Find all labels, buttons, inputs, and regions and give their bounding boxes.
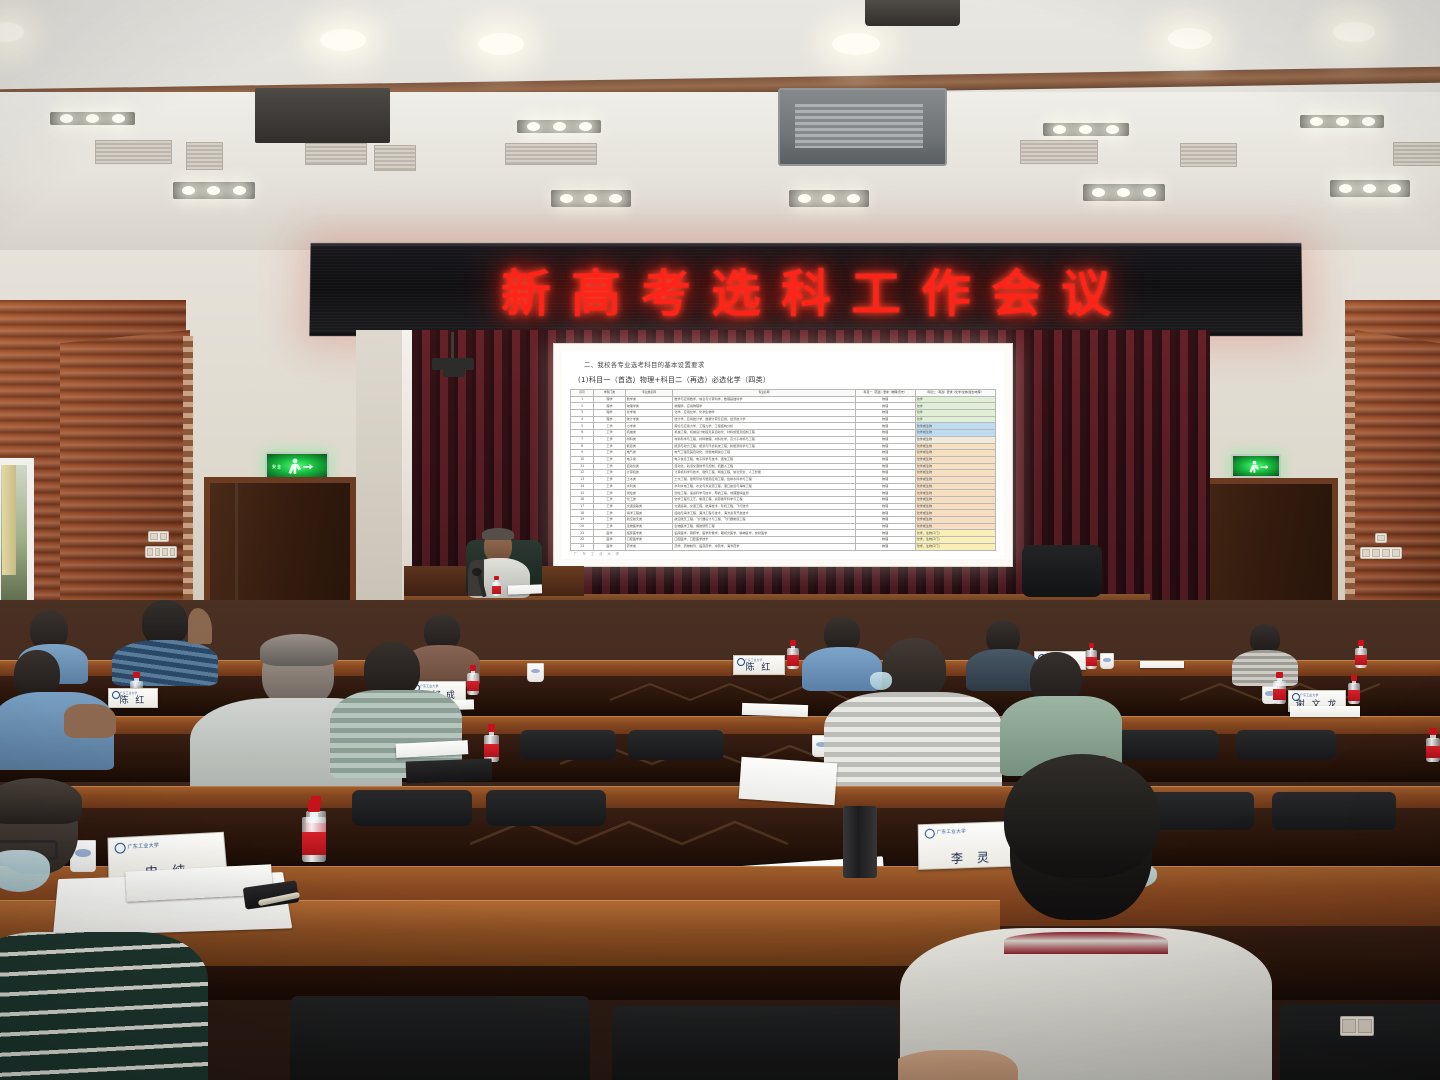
slide-table-cell: 材料科学与工程、材料物理、材料化学、高分子材料与工程 xyxy=(673,436,855,443)
name-placard: 广东工业大学 陈 红 xyxy=(733,655,785,675)
attendee-front-right xyxy=(900,760,1270,1080)
window-blind xyxy=(2,465,16,575)
stage-left-wall xyxy=(356,330,402,630)
ceiling-downlight xyxy=(478,33,524,55)
presentation-slide: 二、我校各专业选考科目的基本设置要求 (1)科目一（首选）物理+科目二（再选）必… xyxy=(562,351,1004,559)
slide-table-cell: 16 xyxy=(571,497,594,504)
light-switch-panel[interactable] xyxy=(148,531,169,542)
ceiling-lower-section xyxy=(0,92,1440,252)
slide-table-cell: 电子信息工程、电子科学与技术、通信工程 xyxy=(673,456,855,463)
bottle-cap xyxy=(308,800,320,812)
slide-table-cell: 物理 xyxy=(855,450,915,457)
slide-table-row: 7工学材料类材料科学与工程、材料物理、材料化学、高分子材料与工程物理化学或生物 xyxy=(571,436,996,443)
bottle-label xyxy=(484,744,499,758)
slide-table-cell: 物理 xyxy=(855,470,915,477)
chair-foreground-left xyxy=(290,996,590,1080)
slide-table-cell: 物理 xyxy=(855,523,915,530)
slide-table-cell: 17 xyxy=(571,503,594,510)
attendee-torso xyxy=(0,932,208,1080)
slide-table-cell: 8 xyxy=(571,443,594,450)
slide-table-cell: 化工类 xyxy=(625,497,673,504)
bottle-cap xyxy=(790,640,796,646)
slide-table-cell: 物理 xyxy=(855,490,915,497)
ceiling-air-vent xyxy=(95,140,172,164)
slide-table-cell: 22 xyxy=(571,537,594,544)
slide-table-cell: 物理 xyxy=(855,497,915,504)
slide-table-cell: 物理 xyxy=(855,416,915,423)
attendee-hair xyxy=(1004,754,1160,878)
slide-table-cell: 工学 xyxy=(594,503,625,510)
slide-table-cell: 机械工程、机械设计制造及其自动化、材料成型及控制工程 xyxy=(673,430,855,437)
chair-row-c xyxy=(486,790,606,826)
exit-sign-left-glyph: 安全 xyxy=(267,454,327,478)
slide-table-cell: 12 xyxy=(571,470,594,477)
ceiling-air-vent xyxy=(305,143,367,165)
ceiling-downlight xyxy=(1333,22,1375,42)
slide-table-cell: 航空航天工程、飞行器设计与工程、飞行器制造工程 xyxy=(673,517,855,524)
slide-table-cell: 化学或生物 xyxy=(915,443,995,450)
slide-table-cell: 交通运输类 xyxy=(625,503,673,510)
slide-table-cell: 理学 xyxy=(594,416,625,423)
slide-table-cell: 物理 xyxy=(855,483,915,490)
slide-table-cell: 15 xyxy=(571,490,594,497)
chair-row-b xyxy=(520,730,616,760)
slide-table-cell: 化学或生物 xyxy=(915,490,995,497)
ceiling-light-strip xyxy=(1330,180,1410,197)
ceiling-air-vent xyxy=(1020,140,1098,164)
slide-table-row: 8工学能源类能源与动力工程、能源与环境系统工程、新能源科学与工程物理化学或生物 xyxy=(571,443,996,450)
bottle-stage xyxy=(492,576,501,596)
slide-table-cell: 物理 xyxy=(855,436,915,443)
slide-table-cell: 材料类 xyxy=(625,436,673,443)
slide-table-cell: 自动化、轨道交通信号与控制、机器人工程 xyxy=(673,463,855,470)
bottle-cap xyxy=(1089,643,1095,648)
slide-table-cell: 工学 xyxy=(594,470,625,477)
bottle-cap xyxy=(1358,640,1364,646)
slide-table-cell: 海洋工程类 xyxy=(625,510,673,517)
slide-table-cell: 工学 xyxy=(594,436,625,443)
slide-table-cell: 化学、应用化学、化学生物学 xyxy=(673,410,855,417)
slide-table-cell: 工学 xyxy=(594,456,625,463)
attendee-front-left xyxy=(0,782,210,1080)
slide-table-cell: 理学 xyxy=(594,410,625,417)
presenter-hair xyxy=(482,528,514,540)
slide-table-cell: 口腔医学、口腔医学技术 xyxy=(673,537,855,544)
slide-table-cell: 物理 xyxy=(855,396,915,403)
attendee-hair xyxy=(0,778,82,824)
slide-table-cell: 5 xyxy=(571,423,594,430)
slide-table-cell: 化学或生物 xyxy=(915,463,995,470)
slide-table-row: 4理学统计学类统计学、应用统计学、数据计算及应用、经济统计学物理化学 xyxy=(571,416,996,423)
bottle-cap xyxy=(1276,672,1283,678)
slide-table-row: 18工学海洋工程类船舶与海洋工程、海洋工程与技术、海洋资源开发技术物理化学或生物 xyxy=(571,510,996,517)
shirt-collar-stripe xyxy=(1004,932,1168,954)
ceiling-air-vent xyxy=(505,143,597,165)
slide-table-cell: 航空航天类 xyxy=(625,517,673,524)
slide-table-cell: 工学 xyxy=(594,483,625,490)
power-outlet-panel[interactable] xyxy=(1360,547,1402,559)
slide-table-header-cell: 科目二（再选）要求（化学/生物/政治/地理） xyxy=(915,390,995,397)
ceiling-downlight xyxy=(1168,28,1212,49)
slide-table-cell: 工学 xyxy=(594,463,625,470)
ceiling-air-vent xyxy=(1180,143,1237,167)
light-switch-panel[interactable] xyxy=(1375,533,1387,543)
ceiling-light-strip xyxy=(50,112,135,125)
slide-table-cell: 工学 xyxy=(594,450,625,457)
slide-table-cell: 电子类 xyxy=(625,456,673,463)
slide-table-row: 1理学数学类数学与应用数学、信息与计算科学、数理基础科学物理化学 xyxy=(571,396,996,403)
slide-table-cell: 物理 xyxy=(855,537,915,544)
slide-table-cell: 化学工程与工艺、制药工程、资源循环科学与工程 xyxy=(673,497,855,504)
slide-table-row: 19工学航空航天类航空航天工程、飞行器设计与工程、飞行器制造工程物理化学或生物 xyxy=(571,517,996,524)
slide-table-cell: 9 xyxy=(571,450,594,457)
slide-table-header-cell: 学科门类 xyxy=(594,390,625,397)
bottle-cap xyxy=(488,724,496,732)
ceiling-light-strip xyxy=(1300,115,1384,128)
bottle-row-a-right xyxy=(1355,640,1367,668)
slide-table-cell: 14 xyxy=(571,483,594,490)
slide-table-cell: 化学或生物 xyxy=(915,423,995,430)
attendee-torso xyxy=(1232,650,1298,686)
exit-sign-right-glyph xyxy=(1233,456,1279,476)
slide-table-cell: 化学或生物 xyxy=(915,503,995,510)
slide-table-row: 10工学电子类电子信息工程、电子科学与技术、通信工程物理化学或生物 xyxy=(571,456,996,463)
bottle-label xyxy=(1355,655,1367,665)
slide-table-cell: 6 xyxy=(571,430,594,437)
slide-table-cell: 物理 xyxy=(855,530,915,537)
slide-table: 序号学科门类专业类名称专业名称科目一（首选）要求（物理/历史）科目二（再选）要求… xyxy=(570,389,996,551)
notebook-row-c xyxy=(406,759,493,784)
bottle-label xyxy=(1273,689,1286,701)
slide-table-cell: 物理 xyxy=(855,517,915,524)
slide-table-row: 11工学自动化类自动化、轨道交通信号与控制、机器人工程物理化学或生物 xyxy=(571,463,996,470)
slide-table-cell: 2 xyxy=(571,403,594,410)
slide-table-cell: 药学、药物制剂、临床药学、中药学、海洋药学 xyxy=(673,543,855,550)
ceiling-downlight xyxy=(832,33,880,55)
chair-row-b xyxy=(628,730,724,760)
exit-sign-right xyxy=(1231,454,1281,478)
bottle-label xyxy=(467,681,479,692)
slide-table-cell: 21 xyxy=(571,530,594,537)
bottle-row-c-2 xyxy=(484,724,499,762)
slide-table-cell: 交通运输、交通工程、航海技术、轮机工程、飞行技术 xyxy=(673,503,855,510)
slide-table-cell: 测绘工程、遥感科学与技术、导航工程、地理国情监测 xyxy=(673,490,855,497)
slide-table-cell: 土木类 xyxy=(625,476,673,483)
attendee-row-b-1 xyxy=(0,650,128,760)
slide-table-cell: 7 xyxy=(571,436,594,443)
bottle-cap xyxy=(1429,728,1436,735)
ceiling-light-strip xyxy=(1083,184,1165,201)
power-outlet-panel[interactable] xyxy=(145,546,177,558)
slide-table-cell: 水利类 xyxy=(625,483,673,490)
bottle-cap xyxy=(133,672,140,678)
slide-table-cell: 工学 xyxy=(594,476,625,483)
slide-table-cell: 生物医学类 xyxy=(625,523,673,530)
bottle-row-d-1 xyxy=(302,800,326,862)
papers-row-b-2 xyxy=(742,703,808,717)
slide-table-cell: 化学、生物(2门) xyxy=(915,537,995,544)
slide-table-cell: 电气类 xyxy=(625,450,673,457)
slide-table-cell: 化学或生物 xyxy=(915,517,995,524)
slide-table-cell: 20 xyxy=(571,523,594,530)
slide-table-cell: 化学、生物(2门) xyxy=(915,543,995,550)
slide-subheading: (1)科目一（首选）物理+科目二（再选）必选化学（四类） xyxy=(578,375,996,385)
slide-table-header-cell: 科目一（首选）要求（物理/历史） xyxy=(855,390,915,397)
slide-footer: 广 东 工 业 大 学 xyxy=(574,551,621,556)
slide-table-cell: 化学或生物 xyxy=(915,523,995,530)
air-conditioner-grille xyxy=(795,104,923,148)
slide-table-cell: 化学 xyxy=(915,416,995,423)
slide-table-cell: 计算机科学与技术、软件工程、网络工程、信息安全、人工智能 xyxy=(673,470,855,477)
bottle-cap xyxy=(1351,675,1357,681)
slide-table-cell: 19 xyxy=(571,517,594,524)
bottle-row-b-2 xyxy=(787,640,799,669)
svg-text:安全: 安全 xyxy=(272,463,282,469)
face-mask xyxy=(0,850,50,892)
slide-table-row: 21医学临床医学类临床医学、麻醉学、医学影像学、眼视光医学、精神医学、放射医学物… xyxy=(571,530,996,537)
slide-table-cell: 物理 xyxy=(855,463,915,470)
slide-table-cell: 医学 xyxy=(594,537,625,544)
attendee-row-a-6 xyxy=(1232,624,1298,676)
attendee-row-b-5 xyxy=(1000,652,1120,762)
slide-table-cell: 13 xyxy=(571,476,594,483)
slide-table-cell: 药学类 xyxy=(625,543,673,550)
ceiling-speaker xyxy=(255,88,390,143)
slide-table-cell: 化学 xyxy=(915,396,995,403)
bottle-label xyxy=(1348,690,1360,700)
slide-table-cell: 化学或生物 xyxy=(915,476,995,483)
slide-table-cell: 口腔医学类 xyxy=(625,537,673,544)
projector-body xyxy=(443,368,465,377)
slide-table-cell: 工学 xyxy=(594,497,625,504)
slide-table-cell: 理论与应用力学、工程力学、工程结构分析 xyxy=(673,423,855,430)
slide-table-header-cell: 专业类名称 xyxy=(625,390,673,397)
ceiling-light-strip xyxy=(173,182,255,199)
paper-cup-row-b-1 xyxy=(527,663,544,682)
attendee-head xyxy=(14,650,60,698)
face-mask xyxy=(870,672,892,690)
projector-mount-arm xyxy=(451,332,454,360)
slide-table-cell: 化学或生物 xyxy=(915,430,995,437)
slide-table-cell: 医学 xyxy=(594,543,625,550)
slide-table-cell: 4 xyxy=(571,416,594,423)
slide-table-cell: 能源类 xyxy=(625,443,673,450)
slide-table-row: 23医学药学类药学、药物制剂、临床药学、中药学、海洋药学物理化学、生物(2门) xyxy=(571,543,996,550)
slide-table-cell: 生物医学工程、假肢矫形工程 xyxy=(673,523,855,530)
slide-table-cell: 3 xyxy=(571,410,594,417)
chair-row-c xyxy=(1272,792,1396,830)
led-banner: 新高考选科工作会议 xyxy=(309,243,1302,336)
slide-table-header-cell: 序号 xyxy=(571,390,594,397)
slide-table-cell: 物理 xyxy=(855,410,915,417)
ceiling-light-strip xyxy=(551,190,631,207)
slide-table-cell: 化学或生物 xyxy=(915,456,995,463)
slide-table-row: 16工学化工类化学工程与工艺、制药工程、资源循环科学与工程物理化学或生物 xyxy=(571,497,996,504)
ceiling-light-strip xyxy=(1043,123,1129,136)
bottle-cap xyxy=(470,665,476,671)
slide-table-row: 3理学化学类化学、应用化学、化学生物学物理化学 xyxy=(571,410,996,417)
bottle-label xyxy=(492,586,501,593)
bottle-row-b-5 xyxy=(1426,728,1440,762)
slide-table-row: 9工学电气类电气工程及其自动化、智能电网信息工程物理化学或生物 xyxy=(571,450,996,457)
ceiling-projector-box xyxy=(865,0,960,26)
slide-table-cell: 化学或生物 xyxy=(915,497,995,504)
attendee-arm xyxy=(64,704,116,738)
ceiling-air-vent xyxy=(374,145,416,171)
slide-table-cell: 工学 xyxy=(594,443,625,450)
chair-foreground-mid xyxy=(612,1006,898,1080)
chair-row-b xyxy=(1236,730,1336,760)
papers-row-b-4 xyxy=(1290,706,1360,717)
bottle-row-b-4 xyxy=(1273,672,1286,704)
ceiling-light-strip xyxy=(789,190,869,207)
slide-table-cell: 工学 xyxy=(594,517,625,524)
slide-table-cell: 数学类 xyxy=(625,396,673,403)
slide-table-row: 17工学交通运输类交通运输、交通工程、航海技术、轮机工程、飞行技术物理化学或生物 xyxy=(571,503,996,510)
slide-table-header-cell: 专业名称 xyxy=(673,390,855,397)
led-banner-text: 新高考选科工作会议 xyxy=(481,254,1132,326)
attendee-row-b-4 xyxy=(824,638,1000,778)
slide-table-cell: 化学或生物 xyxy=(915,450,995,457)
bottle-label xyxy=(302,832,326,854)
stage-chair-right xyxy=(1022,545,1102,597)
slide-table-cell: 化学、生物(2门) xyxy=(915,530,995,537)
slide-table-cell: 化学类 xyxy=(625,410,673,417)
placard-name: 陈 红 xyxy=(734,660,784,673)
slide-table-cell: 化学或生物 xyxy=(915,436,995,443)
slide-table-cell: 工学 xyxy=(594,490,625,497)
chair-row-c xyxy=(352,790,472,826)
slide-table-cell: 统计学类 xyxy=(625,416,673,423)
bottle-label xyxy=(1426,746,1440,758)
ceiling-air-vent xyxy=(186,142,223,170)
slide-table-row: 2理学物理学类物理学、应用物理学物理化学 xyxy=(571,403,996,410)
slide-table-cell: 物理 xyxy=(855,476,915,483)
slide-table-cell: 工学 xyxy=(594,523,625,530)
attendee-hair xyxy=(260,634,338,666)
slide-table-row: 20工学生物医学类生物医学工程、假肢矫形工程物理化学或生物 xyxy=(571,523,996,530)
slide-table-cell: 物理 xyxy=(855,503,915,510)
bottle-cap xyxy=(494,576,499,580)
slide-table-cell: 工学 xyxy=(594,423,625,430)
slide-table-cell: 化学或生物 xyxy=(915,470,995,477)
slide-heading: 二、我校各专业选考科目的基本设置要求 xyxy=(584,360,996,369)
slide-table-cell: 计算机类 xyxy=(625,470,673,477)
slide-table-cell: 物理 xyxy=(855,543,915,550)
papers-row-a xyxy=(1140,661,1184,668)
slide-table-cell: 数学与应用数学、信息与计算科学、数理基础科学 xyxy=(673,396,855,403)
ceiling-light-strip xyxy=(517,120,601,133)
slide-table-cell: 临床医学、麻醉学、医学影像学、眼视光医学、精神医学、放射医学 xyxy=(673,530,855,537)
slide-table-cell: 能源与动力工程、能源与环境系统工程、新能源科学与工程 xyxy=(673,443,855,450)
bottle-row-a-right2 xyxy=(1348,675,1360,704)
conference-room-photo: 安全 新高考选科工作会议 xyxy=(0,0,1440,1080)
slide-table-cell: 18 xyxy=(571,510,594,517)
slide-table-cell: 测绘类 xyxy=(625,490,673,497)
slide-table-row: 6工学机械类机械工程、机械设计制造及其自动化、材料成型及控制工程物理化学或生物 xyxy=(571,430,996,437)
attendee-head xyxy=(882,638,946,700)
slide-table-cell: 物理 xyxy=(855,510,915,517)
slide-table-cell: 物理 xyxy=(855,423,915,430)
slide-table-cell: 化学或生物 xyxy=(915,483,995,490)
slide-table-cell: 物理 xyxy=(855,430,915,437)
ceiling-air-vent xyxy=(1393,142,1440,166)
microphone-head xyxy=(472,568,482,576)
slide-table-cell: 机械类 xyxy=(625,430,673,437)
slide-table-cell: 物理学类 xyxy=(625,403,673,410)
slide-table-cell: 1 xyxy=(571,396,594,403)
slide-table-row: 15工学测绘类测绘工程、遥感科学与技术、导航工程、地理国情监测物理化学或生物 xyxy=(571,490,996,497)
bottle-label xyxy=(787,655,799,665)
exit-sign-left: 安全 xyxy=(265,452,329,480)
ceiling-downlight xyxy=(320,29,366,51)
slide-table-cell: 船舶与海洋工程、海洋工程与技术、海洋资源开发技术 xyxy=(673,510,855,517)
slide-table-row: 14工学水利类水利水电工程、水文与水资源工程、港口航道与海岸工程物理化学或生物 xyxy=(571,483,996,490)
slide-table-cell: 临床医学类 xyxy=(625,530,673,537)
slide-table-cell: 化学 xyxy=(915,410,995,417)
slide-table-cell: 理学 xyxy=(594,396,625,403)
slide-table-cell: 化学 xyxy=(915,403,995,410)
slide-table-cell: 物理学、应用物理学 xyxy=(673,403,855,410)
slide-table-cell: 医学 xyxy=(594,530,625,537)
slide-table-row: 22医学口腔医学类口腔医学、口腔医学技术物理化学、生物(2门) xyxy=(571,537,996,544)
slide-table-cell: 物理 xyxy=(855,403,915,410)
slide-table-row: 5工学力学类理论与应用力学、工程力学、工程结构分析物理化学或生物 xyxy=(571,423,996,430)
slide-table-cell: 工学 xyxy=(594,510,625,517)
slide-table-cell: 自动化类 xyxy=(625,463,673,470)
slide-table-header-row: 序号学科门类专业类名称专业名称科目一（首选）要求（物理/历史）科目二（再选）要求… xyxy=(571,390,996,397)
slide-table-row: 13工学土木类土木工程、建筑环境与能源应用工程、给排水科学与工程物理化学或生物 xyxy=(571,476,996,483)
desk-power-outlet[interactable] xyxy=(1340,1016,1374,1036)
projection-screen: 二、我校各专业选考科目的基本设置要求 (1)科目一（首选）物理+科目二（再选）必… xyxy=(553,343,1013,567)
slide-table-cell: 物理 xyxy=(855,456,915,463)
thermos-tumbler xyxy=(843,806,877,878)
slide-table-cell: 23 xyxy=(571,543,594,550)
bottle-row-b-1 xyxy=(467,665,479,695)
papers-row-c-3 xyxy=(739,757,838,806)
presenter-papers xyxy=(508,584,542,594)
chair-row-b xyxy=(1118,730,1218,760)
slide-table-cell: 11 xyxy=(571,463,594,470)
slide-table-cell: 水利水电工程、水文与水资源工程、港口航道与海岸工程 xyxy=(673,483,855,490)
slide-table-row: 12工学计算机类计算机科学与技术、软件工程、网络工程、信息安全、人工智能物理化学… xyxy=(571,470,996,477)
slide-table-cell: 电气工程及其自动化、智能电网信息工程 xyxy=(673,450,855,457)
slide-table-cell: 工学 xyxy=(594,430,625,437)
slide-table-cell: 物理 xyxy=(855,443,915,450)
slide-table-cell: 力学类 xyxy=(625,423,673,430)
slide-table-cell: 10 xyxy=(571,456,594,463)
slide-table-cell: 化学或生物 xyxy=(915,510,995,517)
slide-table-cell: 土木工程、建筑环境与能源应用工程、给排水科学与工程 xyxy=(673,476,855,483)
slide-table-cell: 统计学、应用统计学、数据计算及应用、经济统计学 xyxy=(673,416,855,423)
slide-table-cell: 理学 xyxy=(594,403,625,410)
